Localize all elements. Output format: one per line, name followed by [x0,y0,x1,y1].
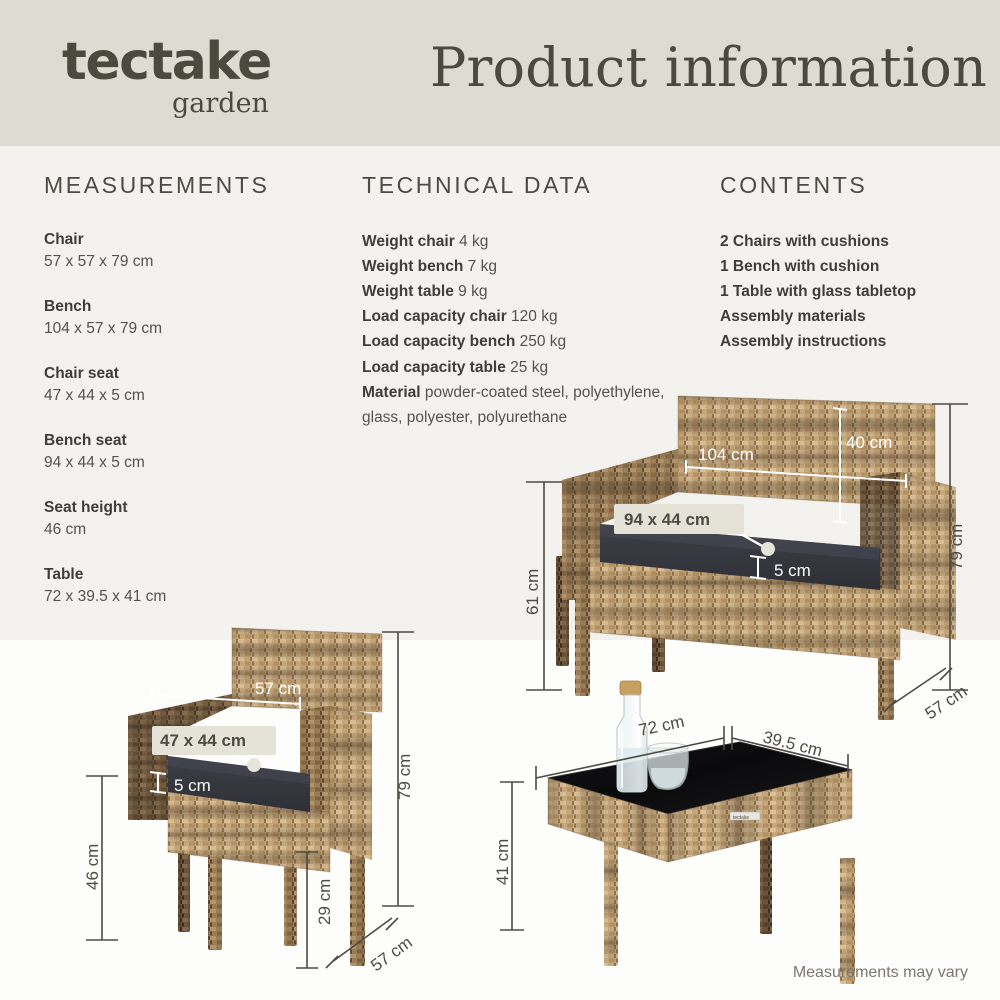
contents-item: Assembly materials [720,304,990,329]
measurement-value: 72 x 39.5 x 41 cm [44,586,344,608]
contents-column: CONTENTS 2 Chairs with cushions 1 Bench … [720,172,990,355]
measurement-label: Table [44,564,344,586]
water-bottle [617,681,647,792]
technical-item: Material powder-coated steel, polyethyle… [362,380,702,430]
technical-label: Weight bench [362,258,463,275]
technical-value: 7 kg [468,258,497,275]
chair-cushion-thickness-label: 5 cm [174,776,211,795]
chair-width-label: 57 cm [255,679,301,698]
technical-item: Load capacity chair 120 kg [362,304,702,329]
measurement-value: 94 x 44 x 5 cm [44,452,344,474]
measurement-value: 104 x 57 x 79 cm [44,318,344,340]
technical-value: 4 kg [459,233,488,250]
drinking-glass [648,743,689,790]
technical-item: Weight table 9 kg [362,279,702,304]
product-information-sheet: tectake garden Product information MEASU… [0,0,1000,1000]
measurement-item: Bench 104 x 57 x 79 cm [44,296,344,341]
page-title: Product information [430,36,970,101]
measurement-label: Bench seat [44,430,344,452]
technical-value: 9 kg [458,283,487,300]
technical-value: 250 kg [520,333,567,350]
chair-seat-height-label: 46 cm [83,844,102,890]
measurements-heading: MEASUREMENTS [44,172,344,199]
measurement-item: Seat height 46 cm [44,497,344,542]
measurement-item: Table 72 x 39.5 x 41 cm [44,564,344,609]
measurement-label: Chair seat [44,363,344,385]
info-panel: MEASUREMENTS Chair 57 x 57 x 79 cm Bench… [0,146,1000,640]
technical-item: Weight chair 4 kg [362,229,702,254]
tectake-badge [730,812,760,820]
technical-label: Load capacity table [362,359,506,376]
chair-illustration: 57 cm 5 cm 47 x 44 cm 79 cm 46 cm 29 cm … [83,628,416,975]
bench-depth-label: 57 cm [922,682,971,724]
technical-label: Weight table [362,283,454,300]
technical-data-heading: TECHNICAL DATA [362,172,702,199]
technical-label: Weight chair [362,233,455,250]
table-height-label: 41 cm [493,839,512,885]
measurement-value: 47 x 44 x 5 cm [44,385,344,407]
brand-logo-main: tectake [62,36,362,88]
technical-item: Load capacity bench 250 kg [362,329,702,354]
contents-item: Assembly instructions [720,329,990,354]
technical-item: Load capacity table 25 kg [362,355,702,380]
chair-total-height-label: 79 cm [395,754,414,800]
technical-label: Load capacity chair [362,308,507,325]
brand-logo: tectake garden [62,36,362,117]
table-width-label: 72 cm [637,712,686,740]
technical-item: Weight bench 7 kg [362,254,702,279]
technical-label: Load capacity bench [362,333,515,350]
measurement-value: 57 x 57 x 79 cm [44,251,344,273]
contents-item: 1 Table with glass tabletop [720,279,990,304]
chair-leg-clearance-label: 29 cm [315,879,334,925]
chair-seat-callout: 47 x 44 cm [160,731,246,750]
tectake-badge-label: tectake [733,815,749,821]
contents-item: 1 Bench with cushion [720,254,990,279]
footer-note: Measurements may vary [793,964,968,982]
chair-depth-label: 57 cm [367,933,416,976]
measurement-value: 46 cm [44,519,344,541]
measurement-item: Bench seat 94 x 44 x 5 cm [44,430,344,475]
measurement-item: Chair seat 47 x 44 x 5 cm [44,363,344,408]
table-illustration: tectake 72 cm 39.5 cm 41 cm [493,681,855,984]
measurement-label: Chair [44,229,344,251]
measurement-label: Seat height [44,497,344,519]
brand-logo-sub: garden [172,90,362,117]
measurement-item: Chair 57 x 57 x 79 cm [44,229,344,274]
technical-value: 120 kg [511,308,558,325]
measurements-column: MEASUREMENTS Chair 57 x 57 x 79 cm Bench… [44,172,344,631]
technical-data-column: TECHNICAL DATA Weight chair 4 kg Weight … [362,172,702,430]
contents-heading: CONTENTS [720,172,990,199]
contents-item: 2 Chairs with cushions [720,229,990,254]
technical-value: 25 kg [510,359,548,376]
table-depth-label: 39.5 cm [761,727,824,760]
header-band: tectake garden Product information [0,0,1000,146]
technical-label: Material [362,384,421,401]
measurement-label: Bench [44,296,344,318]
